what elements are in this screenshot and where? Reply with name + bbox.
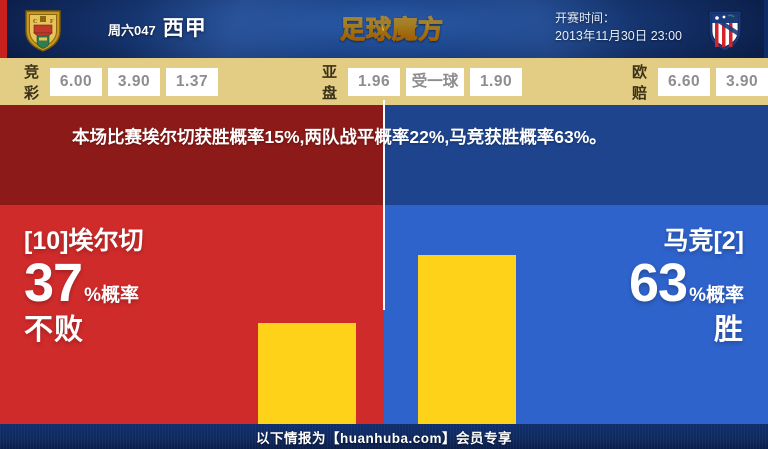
home-outcome-label: 不败: [24, 315, 143, 347]
header-bar: C F 周六047 西甲 足球魔方 开赛时间： 2013年11月30日 23:0…: [0, 0, 768, 58]
odds-cell-home[interactable]: 6.00: [50, 68, 102, 96]
footer-text: 以下情报为【huanhuba.com】会员专享: [256, 427, 512, 447]
odds-cell-draw[interactable]: 3.90: [108, 68, 160, 96]
odds-group-title: 亚盘: [322, 61, 338, 103]
league-block: 周六047 西甲: [108, 12, 207, 42]
odds-group-title: 欧赔: [632, 61, 648, 103]
atletico-madrid-crest-icon: [702, 6, 748, 52]
away-probability-bar: [418, 255, 516, 415]
left-red-stripe: [0, 0, 7, 58]
odds-group-yapan: 亚盘 1.96 受一球 1.90: [322, 61, 522, 103]
home-probability-row: 37 %概率: [24, 258, 143, 309]
kickoff-info: 开赛时间： 2013年11月30日 23:00: [555, 10, 682, 46]
odds-group-oupei: 欧赔 6.60 3.90 1.51: [632, 61, 768, 103]
away-banner-background: [384, 105, 768, 205]
odds-group-title: 竞彩: [24, 61, 40, 103]
odds-cell-handicap[interactable]: 受一球: [406, 68, 464, 96]
odds-cell-draw[interactable]: 3.90: [716, 68, 768, 96]
odds-cell-home[interactable]: 1.96: [348, 68, 400, 96]
league-name: 西甲: [163, 12, 207, 42]
right-blue-stripe: [764, 0, 768, 58]
home-probability-unit: %概率: [84, 280, 139, 307]
home-banner-background: [0, 105, 384, 205]
odds-cell-away[interactable]: 1.90: [470, 68, 522, 96]
headline-text: 本场比赛埃尔切获胜概率15%,两队战平概率22%,马竞获胜概率63%。: [72, 124, 712, 151]
away-probability-unit: %概率: [689, 280, 744, 307]
home-team-name: [10]埃尔切: [24, 228, 143, 256]
elche-cf-crest-icon: C F: [20, 6, 66, 52]
round-label: 周六047: [108, 20, 156, 39]
strip-segment-yellow-left: [258, 415, 356, 424]
home-team-stats: [10]埃尔切 37 %概率 不败: [24, 228, 143, 347]
odds-cell-away[interactable]: 1.37: [166, 68, 218, 96]
strip-segment-blue-right: [516, 415, 768, 424]
svg-text:C: C: [33, 19, 37, 25]
strip-segment-blue-left: [384, 415, 418, 424]
away-team-stats: 马竞[2] 63 %概率 胜: [629, 228, 744, 347]
odds-cell-home[interactable]: 6.60: [658, 68, 710, 96]
footer-bar: 以下情报为【huanhuba.com】会员专享: [0, 424, 768, 449]
home-probability-value: 37: [24, 258, 82, 309]
kickoff-label: 开赛时间：: [555, 10, 682, 27]
odds-bar: 竞彩 6.00 3.90 1.37 亚盘 1.96 受一球 1.90 欧赔 6.…: [0, 58, 768, 105]
strip-segment-red-left: [0, 415, 258, 424]
odds-group-jingcai: 竞彩 6.00 3.90 1.37: [24, 61, 218, 103]
strip-segment-yellow-right: [418, 415, 516, 424]
away-team-name: 马竞[2]: [629, 228, 744, 256]
away-outcome-label: 胜: [629, 315, 744, 347]
away-probability-value: 63: [629, 258, 687, 309]
brand-logo[interactable]: 足球魔方: [330, 8, 454, 48]
svg-text:F: F: [50, 19, 54, 25]
away-probability-row: 63 %概率: [629, 258, 744, 309]
strip-segment-red-right: [356, 415, 384, 424]
color-strip: [0, 415, 768, 424]
kickoff-time: 2013年11月30日 23:00: [555, 27, 682, 45]
infographic-screen: C F 周六047 西甲 足球魔方 开赛时间： 2013年11月30日 23:0…: [0, 0, 768, 449]
home-probability-bar: [258, 323, 356, 415]
brand-logo-text: 足球魔方: [340, 10, 444, 46]
